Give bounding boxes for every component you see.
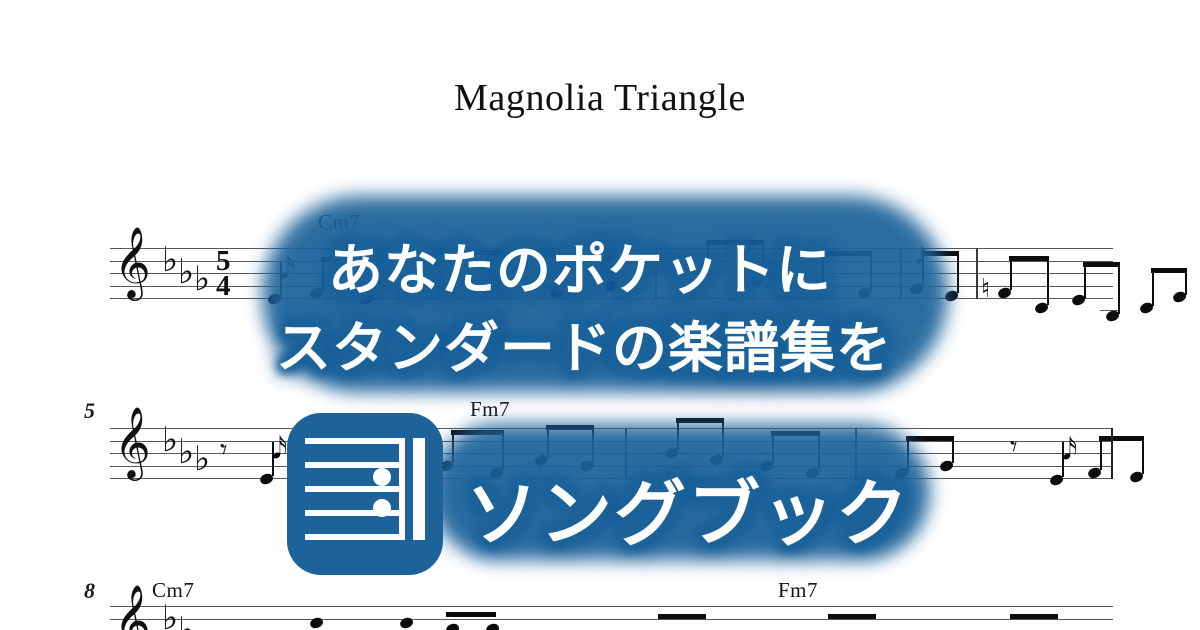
tagline-line-2: スタンダードの楽譜集を [276, 303, 892, 383]
music-staff-repeat-icon [287, 413, 443, 575]
promo-banner: Magnolia Triangle 𝄞 ♭ ♭ ♭ 5 4 𝅘𝅥𝅯 [0, 0, 1200, 630]
brand-name: ソングブック [466, 455, 910, 560]
tagline-line-1: あなたのポケットに [328, 225, 832, 305]
songbook-logo[interactable] [287, 413, 443, 575]
